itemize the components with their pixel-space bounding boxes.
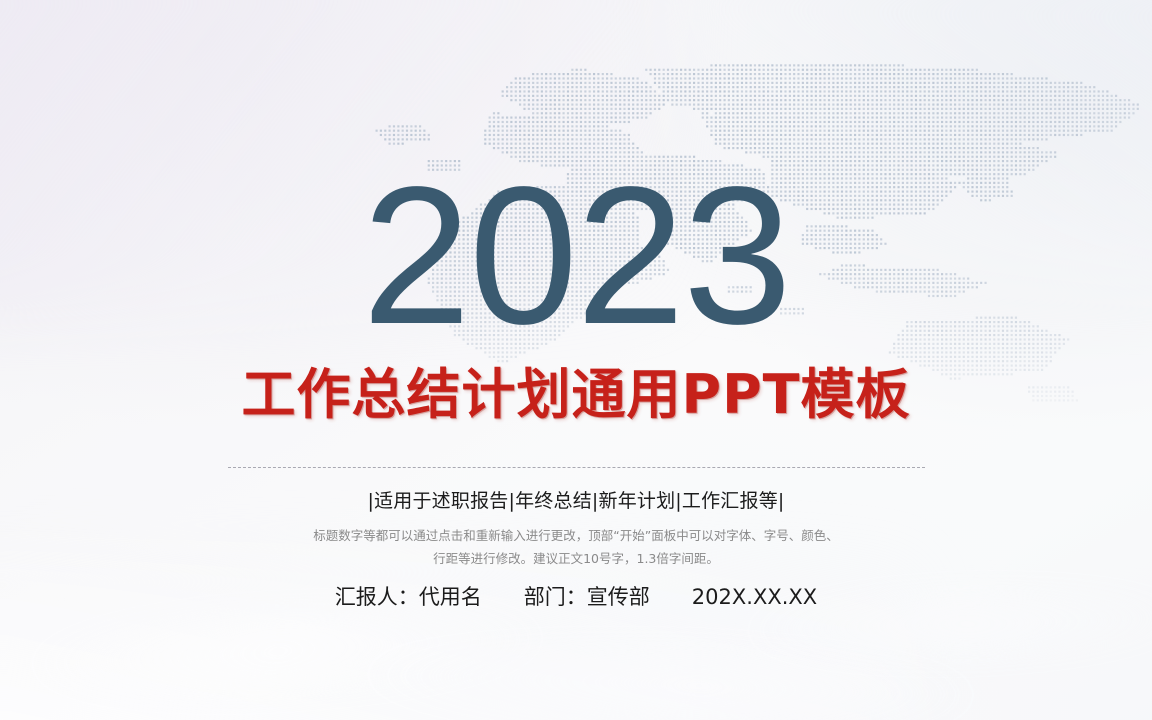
byline: 汇报人：代用名 部门：宣传部 202X.XX.XX <box>0 584 1152 611</box>
page-title: 工作总结计划通用PPT模板 <box>0 366 1152 424</box>
subtitle: |适用于述职报告|年终总结|新年计划|工作汇报等| <box>0 489 1152 514</box>
divider <box>228 467 925 468</box>
year-heading: 2023 <box>0 158 1152 354</box>
presentation-slide: 2023 工作总结计划通用PPT模板 |适用于述职报告|年终总结|新年计划|工作… <box>0 0 1152 720</box>
slide-content: 2023 工作总结计划通用PPT模板 |适用于述职报告|年终总结|新年计划|工作… <box>0 0 1152 720</box>
body-copy-line-1: 标题数字等都可以通过点击和重新输入进行更改，顶部“开始”面板中可以对字体、字号、… <box>246 524 906 547</box>
body-copy-line-2: 行距等进行修改。建议正文10号字，1.3倍字间距。 <box>246 547 906 570</box>
body-copy: 标题数字等都可以通过点击和重新输入进行更改，顶部“开始”面板中可以对字体、字号、… <box>246 524 906 570</box>
